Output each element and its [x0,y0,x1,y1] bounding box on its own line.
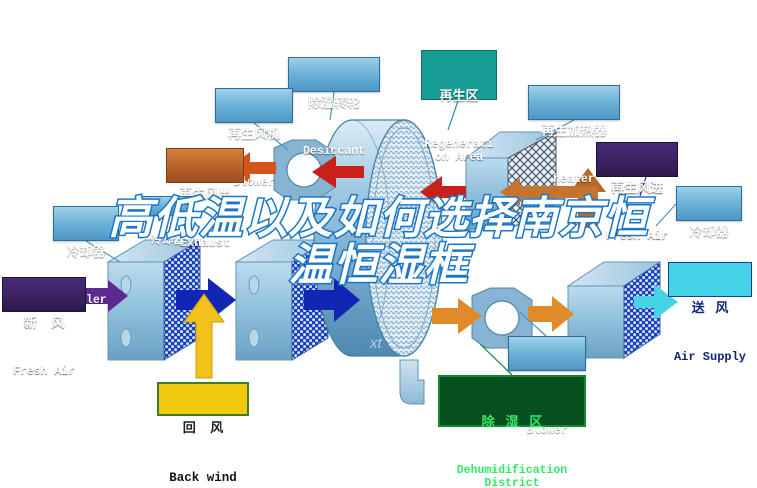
label-desiccant-en: Desiccant [289,146,379,159]
label-fresh-air-en: Fresh Air [3,366,85,379]
label-cooler-upper-left-cn: 冷却器 [143,234,193,246]
label-desiccant-cn: 除湿转轮 [289,96,379,111]
label-regeneration-area-en: Regenerati on Area [422,139,496,165]
label-regen-heater-cn: 再生加热器 [529,124,619,139]
label-back-wind-cn: 回 风 [159,421,247,436]
label-regen-blower[interactable]: 再生风机 Blower [215,88,293,123]
label-exhaust[interactable]: 再生风出 Exhaust [166,148,244,183]
label-regen-blower-cn: 再生风机 [216,127,292,142]
label-back-wind[interactable]: 回 风 Back wind [157,382,249,416]
svg-text:xt: xt [369,335,383,352]
label-fresh-air-cn: 新 风 [3,316,85,331]
duct-elbow [400,360,424,404]
label-regeneration-area[interactable]: 再生区 Regenerati on Area [421,50,497,100]
label-cooler-left[interactable]: 冷却器 Cooler [53,206,119,241]
label-regen-heater[interactable]: 再生加热器 heater [528,85,620,120]
label-regen-fresh-air-en: Fresh Air [597,231,677,244]
label-regen-fresh-air-cn: 再生风进 [597,181,677,196]
label-air-supply[interactable]: 送 风 Air Supply [668,262,752,297]
label-air-supply-en: Air Supply [669,351,751,364]
label-cooler-right-cn: 冷却器 [677,225,741,240]
label-dehumidification-district-cn: 除 湿 区 [440,415,584,430]
label-dehumidification-district-en: Dehumidification District [440,465,584,488]
label-cooler-left-cn: 冷却器 [54,245,118,260]
label-cooler-right[interactable]: 冷却器 Cooler [676,186,742,221]
label-desiccant[interactable]: 除湿转轮 Desiccant [288,57,380,92]
diagram-canvas: xt [0,0,757,488]
label-regen-fresh-air[interactable]: 再生风进 Fresh Air [596,142,678,177]
flow-blower-to-cooler [528,296,574,332]
label-regeneration-area-cn: 再生区 [422,89,496,104]
label-cooler-upper-left[interactable]: 冷却器 [142,196,194,216]
label-dehumidification-district[interactable]: 除 湿 区 Dehumidification District [438,375,586,427]
label-dehum-blower[interactable]: 除湿风机 Blower [508,336,586,371]
label-air-supply-cn: 送 风 [669,301,751,316]
label-back-wind-en: Back wind [159,471,247,485]
label-fresh-air[interactable]: 新 风 Fresh Air [2,277,86,312]
